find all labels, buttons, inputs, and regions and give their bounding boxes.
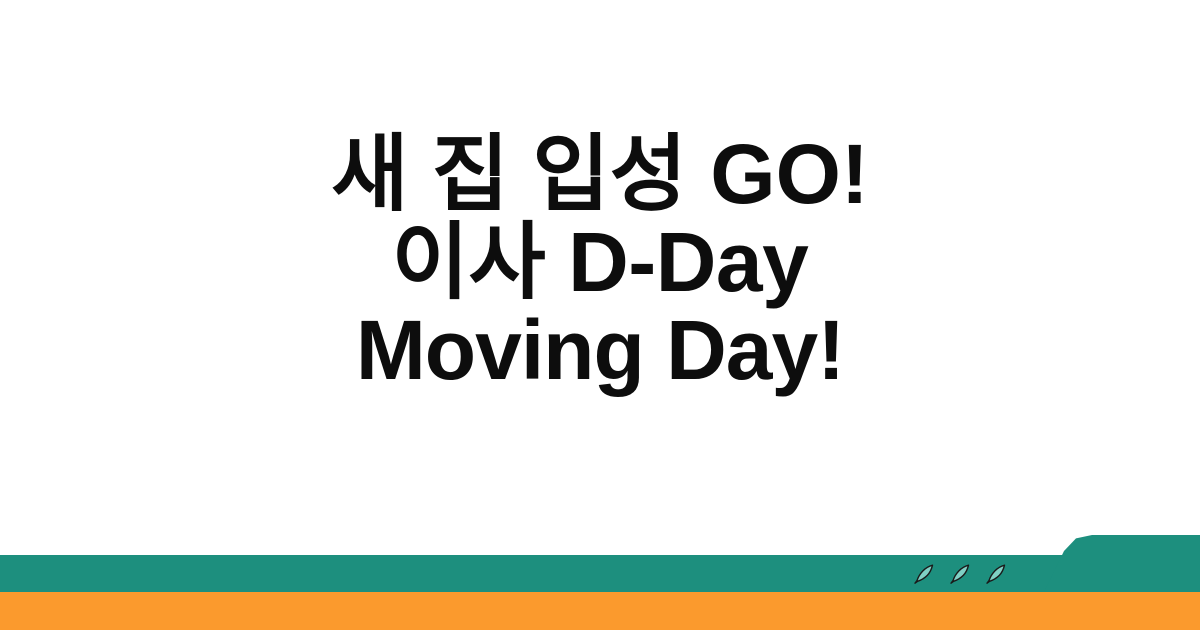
headline-block: 새 집 입성 GO! 이사 D-Day Moving Day! xyxy=(0,0,1200,536)
social-card: 새 집 입성 GO! 이사 D-Day Moving Day! xyxy=(0,0,1200,630)
orange-band xyxy=(0,592,1200,630)
teal-band xyxy=(0,555,1200,592)
footer-decoration xyxy=(0,535,1200,630)
headline-line-2: 이사 D-Day xyxy=(0,218,1200,306)
headline-line-1: 새 집 입성 GO! xyxy=(0,130,1200,218)
sparkle-diamond-icon xyxy=(984,562,1008,586)
headline-line-3: Moving Day! xyxy=(0,306,1200,394)
sparkle-diamond-icon xyxy=(948,562,972,586)
sparkle-diamond-icon xyxy=(912,562,936,586)
sparkle-group xyxy=(912,560,1012,588)
